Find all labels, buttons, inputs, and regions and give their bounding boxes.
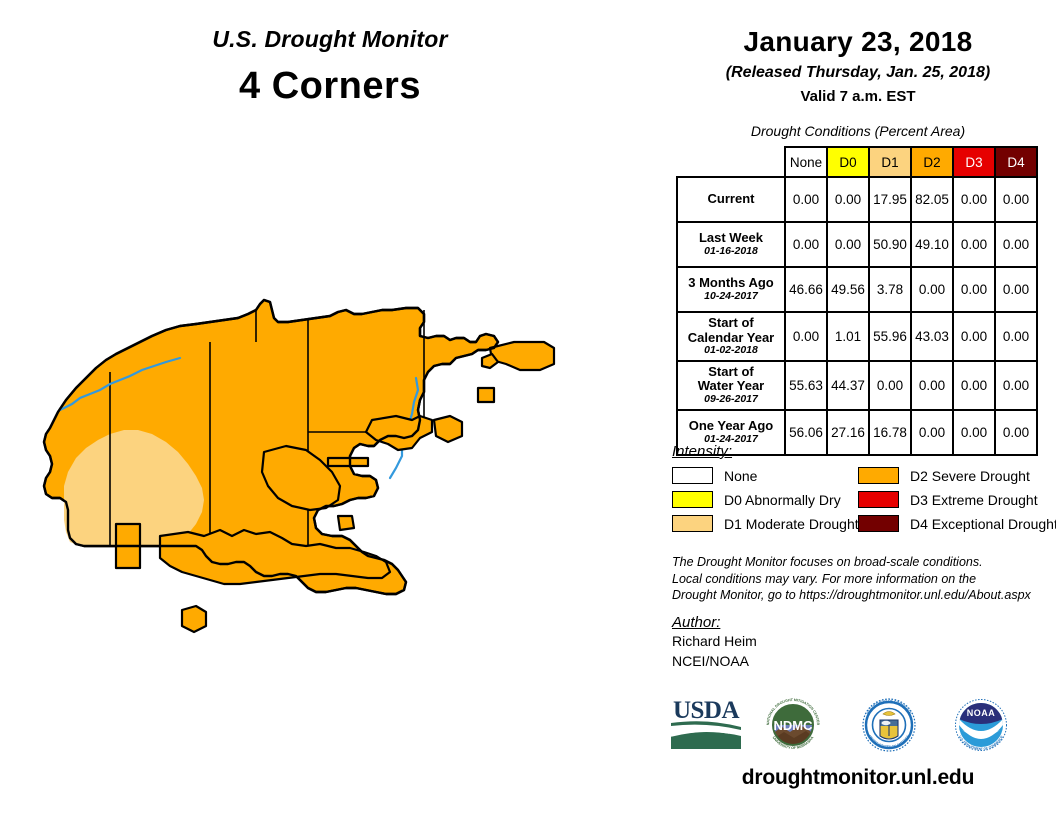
intensity-legend-title: Intensity: [672, 443, 1052, 460]
legend-label: None [724, 468, 757, 484]
svg-text:NDMC: NDMC [774, 718, 814, 733]
cell-r4-c2: 0.00 [869, 361, 911, 410]
ndmc-logo: NDMC NATIONAL DROUGHT MITIGATION CENTER … [760, 692, 826, 756]
row-date: 01-02-2018 [680, 345, 782, 357]
table-row: Start ofWater Year09-26-201755.6344.370.… [677, 361, 1037, 410]
region-title: 4 Corners [0, 65, 660, 108]
cell-r2-c3: 0.00 [911, 267, 953, 312]
site-url: droughtmonitor.unl.edu [660, 766, 1056, 790]
legend-item: D2 Severe Drought [858, 467, 1044, 484]
cell-r0-c2: 17.95 [869, 177, 911, 222]
intensity-legend-grid: NoneD2 Severe DroughtD0 Abnormally DryD3… [672, 467, 1052, 532]
legend-item: D0 Abnormally Dry [672, 491, 858, 508]
legend-label: D3 Extreme Drought [910, 492, 1038, 508]
cell-r3-c3: 43.03 [911, 312, 953, 361]
drought-monitor-page: U.S. Drought Monitor 4 Corners January 2… [0, 0, 1056, 816]
legend-swatch [858, 491, 899, 508]
cell-r3-c4: 0.00 [953, 312, 995, 361]
valid-date: January 23, 2018 [660, 26, 1056, 58]
table-row: Start ofCalendar Year01-02-20180.001.015… [677, 312, 1037, 361]
cell-r4-c0: 55.63 [785, 361, 827, 410]
legend-swatch [672, 515, 713, 532]
table-row: Current0.000.0017.9582.050.000.00 [677, 177, 1037, 222]
cell-r4-c5: 0.00 [995, 361, 1037, 410]
map-parcel-isolated-dot [182, 606, 206, 632]
cell-r2-c1: 49.56 [827, 267, 869, 312]
drought-conditions-table: NoneD0D1D2D3D4Current0.000.0017.9582.050… [676, 146, 1038, 456]
cell-r1-c3: 49.10 [911, 222, 953, 267]
cell-r0-c1: 0.00 [827, 177, 869, 222]
cell-r0-c0: 0.00 [785, 177, 827, 222]
cell-r0-c3: 82.05 [911, 177, 953, 222]
column-header-d2: D2 [911, 147, 953, 177]
table-row: Last Week01-16-20180.000.0050.9049.100.0… [677, 222, 1037, 267]
legend-item: None [672, 467, 858, 484]
cell-r0-c4: 0.00 [953, 177, 995, 222]
legend-item: D4 Exceptional Drought [858, 515, 1044, 532]
column-header-d1: D1 [869, 147, 911, 177]
row-label: Current [677, 177, 785, 222]
column-header-d4: D4 [995, 147, 1037, 177]
author-block: Author: Richard Heim NCEI/NOAA [672, 614, 1052, 672]
cell-r4-c1: 44.37 [827, 361, 869, 410]
cell-r4-c3: 0.00 [911, 361, 953, 410]
cell-r2-c4: 0.00 [953, 267, 995, 312]
column-header-d3: D3 [953, 147, 995, 177]
cell-r2-c5: 0.00 [995, 267, 1037, 312]
cell-r3-c0: 0.00 [785, 312, 827, 361]
svg-text:USDA: USDA [673, 697, 740, 724]
row-label: 3 Months Ago10-24-2017 [677, 267, 785, 312]
cell-r3-c1: 1.01 [827, 312, 869, 361]
column-header-none: None [785, 147, 827, 177]
table-corner-cell [677, 147, 785, 177]
legend-swatch [858, 515, 899, 532]
valid-time: Valid 7 a.m. EST [660, 88, 1056, 105]
partner-logos: USDA NDMC NATIONAL DROUGHT MITIGATION CE… [660, 692, 1056, 760]
row-label: Start ofCalendar Year01-02-2018 [677, 312, 785, 361]
legend-swatch [672, 491, 713, 508]
legend-item: D1 Moderate Drought [672, 515, 858, 532]
cell-r0-c5: 0.00 [995, 177, 1037, 222]
four-corners-drought-map [20, 280, 660, 660]
map-parcel-hopi-east [434, 416, 462, 442]
legend-item: D3 Extreme Drought [858, 491, 1044, 508]
cell-r1-c0: 0.00 [785, 222, 827, 267]
cell-r3-c5: 0.00 [995, 312, 1037, 361]
map-parcel-dot-south [338, 516, 354, 530]
author-affiliation: NCEI/NOAA [672, 651, 1052, 671]
noaa-logo: NOAA U.S. DEPARTMENT OF COMMERCE [948, 692, 1014, 756]
map-title-block: U.S. Drought Monitor 4 Corners [0, 26, 660, 108]
disclaimer-line-2: Local conditions may vary. For more info… [672, 571, 1052, 588]
legend-label: D4 Exceptional Drought [910, 516, 1056, 532]
cell-r4-c4: 0.00 [953, 361, 995, 410]
legend-label: D0 Abnormally Dry [724, 492, 841, 508]
legend-label: D1 Moderate Drought [724, 516, 859, 532]
cell-r2-c2: 3.78 [869, 267, 911, 312]
map-parcel-hopi-north [490, 342, 554, 370]
legend-swatch [858, 467, 899, 484]
cell-r1-c5: 0.00 [995, 222, 1037, 267]
disclaimer-line-3: Drought Monitor, go to https://droughtmo… [672, 587, 1052, 604]
row-date: 09-26-2017 [680, 394, 782, 406]
cell-r1-c2: 50.90 [869, 222, 911, 267]
column-header-d0: D0 [827, 147, 869, 177]
row-label: Start ofWater Year09-26-2017 [677, 361, 785, 410]
author-name: Richard Heim [672, 631, 1052, 651]
cell-r2-c0: 46.66 [785, 267, 827, 312]
cell-r1-c4: 0.00 [953, 222, 995, 267]
table-header-row: NoneD0D1D2D3D4 [677, 147, 1037, 177]
row-label: Last Week01-16-2018 [677, 222, 785, 267]
disclaimer-line-1: The Drought Monitor focuses on broad-sca… [672, 554, 1052, 571]
product-title: U.S. Drought Monitor [0, 26, 660, 53]
map-parcel-small-b [478, 388, 494, 402]
row-date: 01-16-2018 [680, 246, 782, 258]
doc-logo: DEPARTMENT OF COMMERCE UNITED STATES OF … [856, 692, 922, 756]
disclaimer-text: The Drought Monitor focuses on broad-sca… [672, 554, 1052, 604]
svg-text:NOAA: NOAA [967, 708, 996, 718]
table-caption: Drought Conditions (Percent Area) [660, 123, 1056, 139]
legend-label: D2 Severe Drought [910, 468, 1030, 484]
usda-logo: USDA [667, 692, 745, 754]
released-date: (Released Thursday, Jan. 25, 2018) [660, 64, 1056, 82]
table-row: 3 Months Ago10-24-201746.6649.563.780.00… [677, 267, 1037, 312]
date-header-block: January 23, 2018 (Released Thursday, Jan… [660, 26, 1056, 105]
intensity-legend: Intensity: NoneD2 Severe DroughtD0 Abnor… [672, 443, 1052, 532]
row-date: 10-24-2017 [680, 291, 782, 303]
legend-swatch [672, 467, 713, 484]
author-label: Author: [672, 614, 1052, 631]
cell-r3-c2: 55.96 [869, 312, 911, 361]
map-parcel-strip [328, 458, 368, 466]
cell-r1-c1: 0.00 [827, 222, 869, 267]
